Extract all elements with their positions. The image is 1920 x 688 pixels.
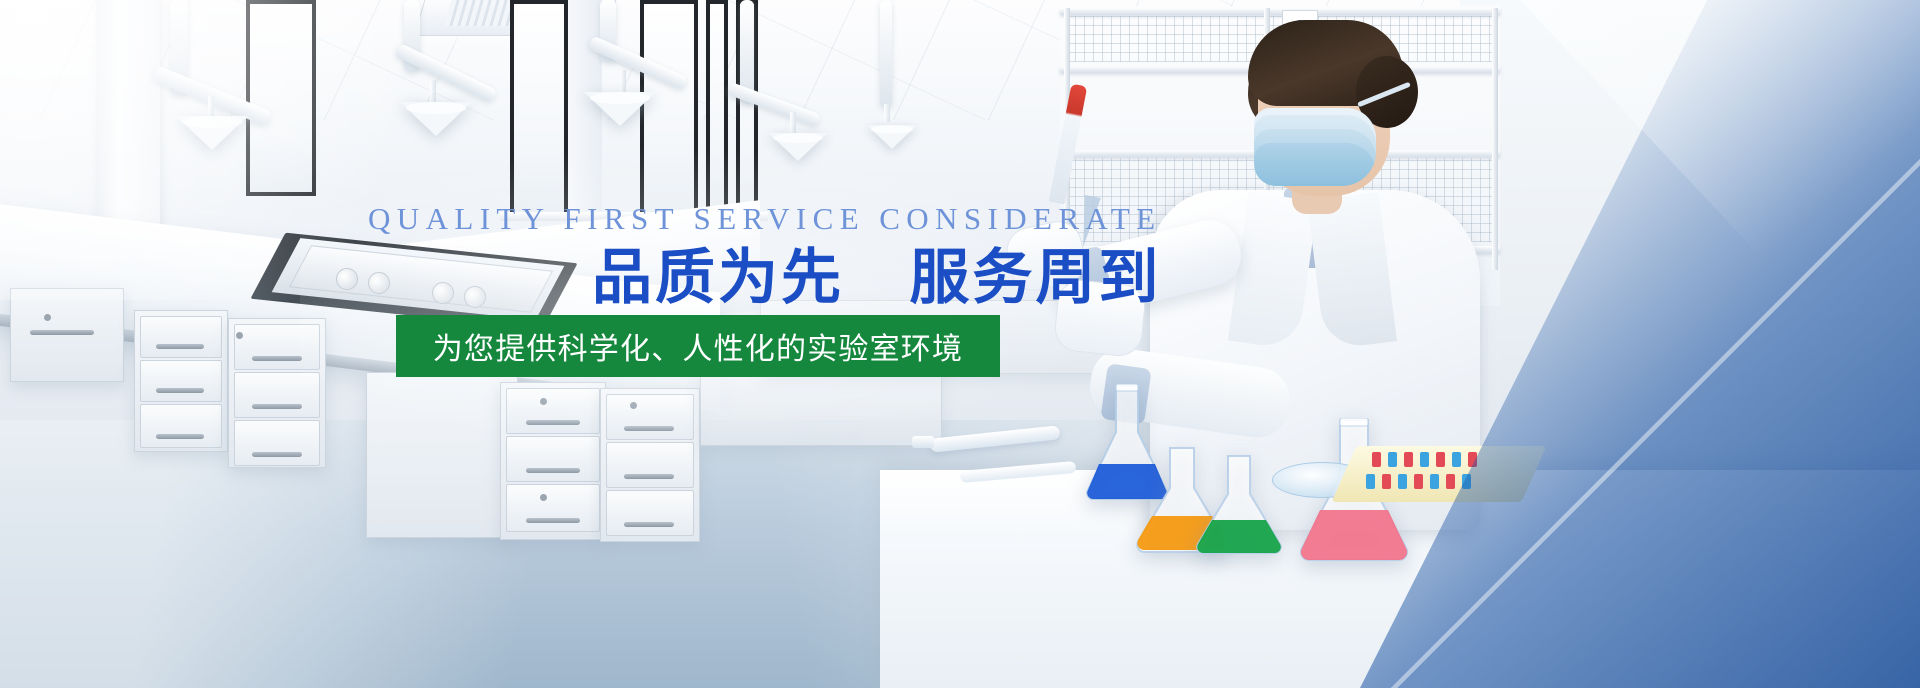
drawer-handle xyxy=(156,388,204,393)
drawer xyxy=(140,316,222,358)
drawer-handle xyxy=(156,344,204,349)
drawer-handle xyxy=(526,518,580,523)
tip-rack-well xyxy=(1388,452,1397,467)
tip-rack-well xyxy=(1382,474,1391,489)
erlenmeyer-flask-green xyxy=(1186,454,1294,558)
drawer-lock xyxy=(236,332,243,339)
ceiling-lamp xyxy=(867,125,917,149)
banner-headline: 品质为先 服务周到 xyxy=(592,248,1161,308)
tip-rack-well xyxy=(1430,474,1439,489)
tip-rack-well xyxy=(1452,452,1461,467)
drawer xyxy=(140,360,222,402)
drawer-handle xyxy=(526,468,580,473)
banner-eyebrow-english: QUALITY FIRST SERVICE CONSIDERATE xyxy=(368,203,1020,236)
tip-rack-well xyxy=(1404,452,1413,467)
drawer xyxy=(140,404,222,448)
cabinet-lock xyxy=(44,314,51,321)
under-bench-cabinet xyxy=(10,288,124,382)
tip-rack-well xyxy=(1366,474,1375,489)
tip-rack-well xyxy=(1372,452,1381,467)
drawer-handle xyxy=(252,356,302,361)
drawer-handle xyxy=(156,434,204,439)
tip-rack-well xyxy=(1446,474,1455,489)
surgical-mask xyxy=(1254,108,1376,186)
drawer xyxy=(606,490,694,536)
drawer-handle xyxy=(252,404,302,409)
cabinet-handle xyxy=(30,330,94,335)
banner-subtitle-text: 为您提供科学化、人性化的实验室环境 xyxy=(433,324,963,368)
tip-rack-well xyxy=(1414,474,1423,489)
tip-rack-well xyxy=(1398,474,1407,489)
hero-banner: QUALITY FIRST SERVICE CONSIDERATE 品质为先 服… xyxy=(0,0,1920,688)
lamp-stem xyxy=(884,104,890,122)
drawer xyxy=(506,484,600,532)
headline-phrase-2: 服务周到 xyxy=(909,244,1161,311)
banner-subtitle-bar: 为您提供科学化、人性化的实验室环境 xyxy=(396,315,1000,377)
tip-rack-well xyxy=(1420,452,1429,467)
drawer-handle xyxy=(624,522,674,527)
tip-rack-well xyxy=(1436,452,1445,467)
drawer-handle xyxy=(252,452,302,457)
shelf-bar xyxy=(1060,8,1500,15)
extraction-arm-vertical xyxy=(880,0,892,108)
headline-phrase-1: 品质为先 xyxy=(592,244,844,311)
ceiling-lamp xyxy=(584,92,656,126)
lamp-stem xyxy=(790,112,796,134)
drawer-handle xyxy=(624,474,674,479)
drawer-lock xyxy=(540,494,547,501)
shelf-post xyxy=(1492,8,1498,270)
